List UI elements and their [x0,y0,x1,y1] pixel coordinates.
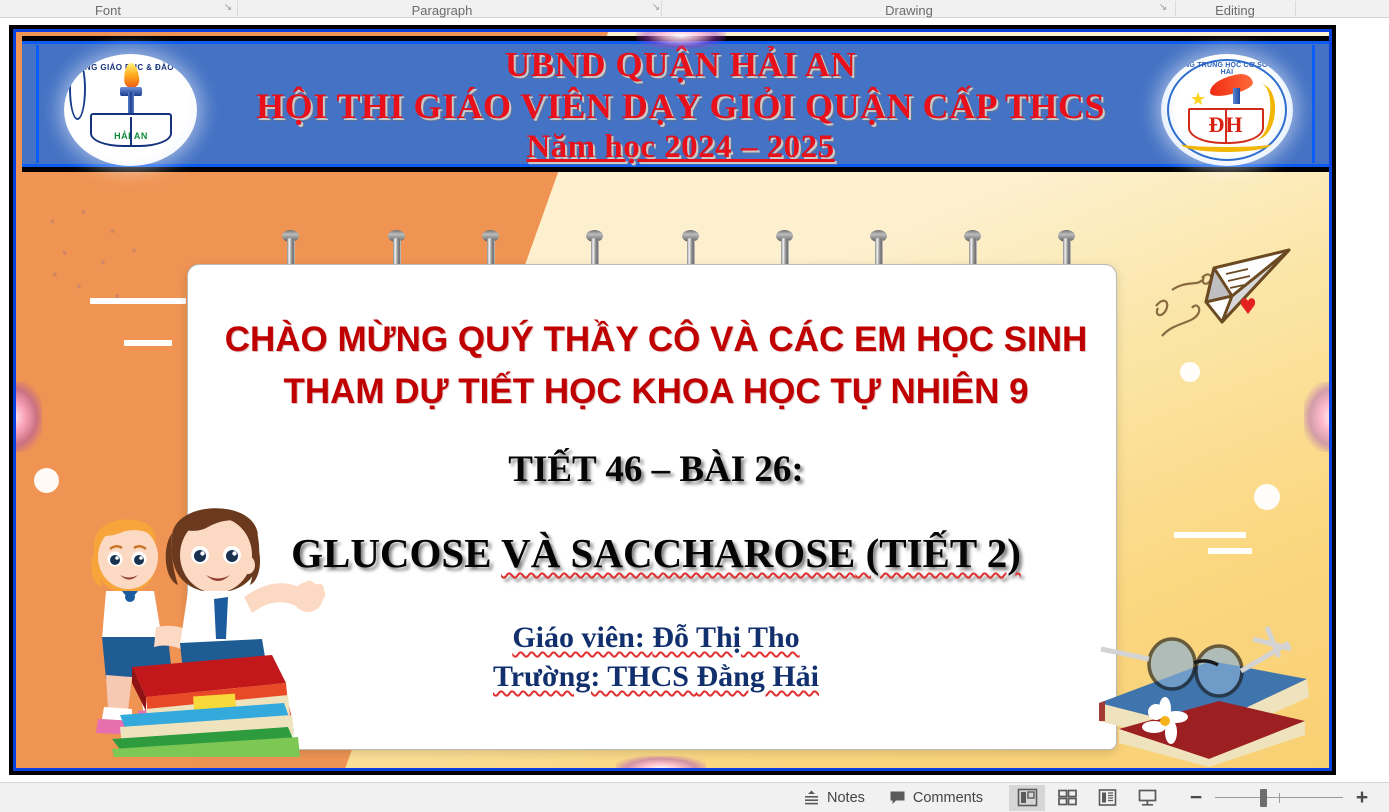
sparkle-icon: ★ [1171,106,1180,117]
welcome-line-1: CHÀO MỪNG QUÝ THẦY CÔ VÀ CÁC EM HỌC SINH [206,314,1106,366]
torch-stem-icon [1233,88,1240,104]
banner-text-block: UBND QUẬN HẢI AN HỘI THI GIÁO VIÊN DẠY G… [222,45,1139,167]
ribbon-group-font: Font [0,0,216,18]
logo-right-center-text: ĐH [1188,112,1264,138]
lesson-topic-part3: (TIẾT 2) [855,530,1021,576]
open-book-icon [90,113,172,147]
ribbon-group-paragraph-label: Paragraph [412,3,473,18]
logo-left-center-text: HẢI AN [98,131,164,141]
banner-line-2: HỘI THI GIÁO VIÊN DẠY GIỎI QUẬN CẤP THCS [222,85,1139,127]
ribbon-group-font-label: Font [95,3,121,18]
slide-canvas-area[interactable]: PHÒNG GIÁO DỤC & ĐÀO TẠO HẢI AN UBND QUẬ… [0,19,1389,782]
decor-dot [1180,362,1200,382]
welcome-line-2: THAM DỰ TIẾT HỌC KHOA HỌC TỰ NHIÊN 9 [206,366,1106,418]
slide-sorter-view-button[interactable] [1049,785,1085,811]
card-bottom-tab [536,732,596,736]
comments-button[interactable]: Comments [878,786,994,810]
zoom-control: − + [1183,785,1375,811]
lesson-number-text[interactable]: TIẾT 46 – BÀI 26: [206,446,1106,494]
star-icon: ★ [1190,90,1206,108]
paper-airplane-illustration [1144,244,1294,349]
normal-view-button[interactable] [1009,785,1045,811]
zoom-in-button[interactable]: + [1349,785,1375,811]
status-bar: Notes Comments [0,782,1389,812]
zoom-slider[interactable] [1215,785,1343,811]
school-name: Đằng Hải [697,660,820,693]
phong-giao-duc-logo: PHÒNG GIÁO DỤC & ĐÀO TẠO HẢI AN [64,54,197,166]
school-label: Trường: THCS [493,660,697,693]
slide[interactable]: PHÒNG GIÁO DỤC & ĐÀO TẠO HẢI AN UBND QUẬ… [13,29,1332,771]
zoom-slider-midtick [1279,793,1280,803]
sparkle-icon: ★ [1274,106,1283,117]
notes-icon [803,789,820,806]
banner-line-1: UBND QUẬN HẢI AN [222,45,1139,85]
ribbon-group-drawing-label: Drawing [885,3,933,18]
teacher-label: Giáo viên: [512,621,652,654]
ribbon-separator [661,1,662,16]
logo-right-arc-text: TRƯỜNG TRUNG HỌC CƠ SỞ ĐẰNG HẢI [1161,62,1293,76]
notes-label: Notes [827,790,865,806]
ribbon-group-editing-label: Editing [1215,3,1255,18]
decor-dot [34,468,59,493]
ribbon-group-paragraph: Paragraph [240,0,644,18]
welcome-text-block[interactable]: CHÀO MỪNG QUÝ THẦY CÔ VÀ CÁC EM HỌC SINH… [206,314,1106,418]
drawing-dialog-launcher-icon[interactable]: ↘ [1157,2,1169,14]
stacked-books-glasses-illustration [1091,617,1331,767]
font-dialog-launcher-icon[interactable]: ↘ [222,2,234,14]
decor-line [90,298,186,304]
ribbon-group-editing: Editing [1180,0,1290,18]
comment-icon [889,789,906,806]
zoom-slider-thumb[interactable] [1260,789,1267,807]
teacher-info-block[interactable]: Giáo viên: Đỗ Thị Tho Trường: THCS Đằng … [206,618,1106,696]
ribbon-separator [1295,1,1296,16]
dang-hai-school-logo: TRƯỜNG TRUNG HỌC CƠ SỞ ĐẰNG HẢI ★ ĐH ★ ★ [1161,54,1293,166]
notes-button[interactable]: Notes [792,786,876,810]
ribbon-separator [1175,1,1176,16]
reading-view-button[interactable] [1089,785,1125,811]
banner-line-3: Năm học 2024 – 2025 [222,127,1139,167]
teacher-line-1: Giáo viên: Đỗ Thị Tho [206,618,1106,657]
ribbon-group-drawing: Drawing [664,0,1154,18]
slide-header-banner: PHÒNG GIÁO DỤC & ĐÀO TẠO HẢI AN UBND QUẬ… [22,36,1329,172]
slide-frame: PHÒNG GIÁO DỤC & ĐÀO TẠO HẢI AN UBND QUẬ… [9,25,1336,775]
ribbon-strip: Font ↘ Paragraph ↘ Drawing ↘ Editing [0,0,1389,18]
decor-line [1208,548,1252,554]
teacher-line-2: Trường: THCS Đằng Hải [206,657,1106,696]
decor-dot [1254,484,1280,510]
lesson-topic-part2: VÀ SACCHAROSE [501,530,855,576]
view-buttons-group [1007,785,1167,811]
comments-label: Comments [913,790,983,806]
slide-show-view-button[interactable] [1129,785,1165,811]
decor-line [124,340,172,346]
teacher-name: Đỗ Thị Tho [652,621,799,654]
children-on-books-illustration [76,487,334,757]
decor-line [1174,532,1246,538]
ribbon-separator [237,1,238,16]
zoom-out-button[interactable]: − [1183,785,1209,811]
